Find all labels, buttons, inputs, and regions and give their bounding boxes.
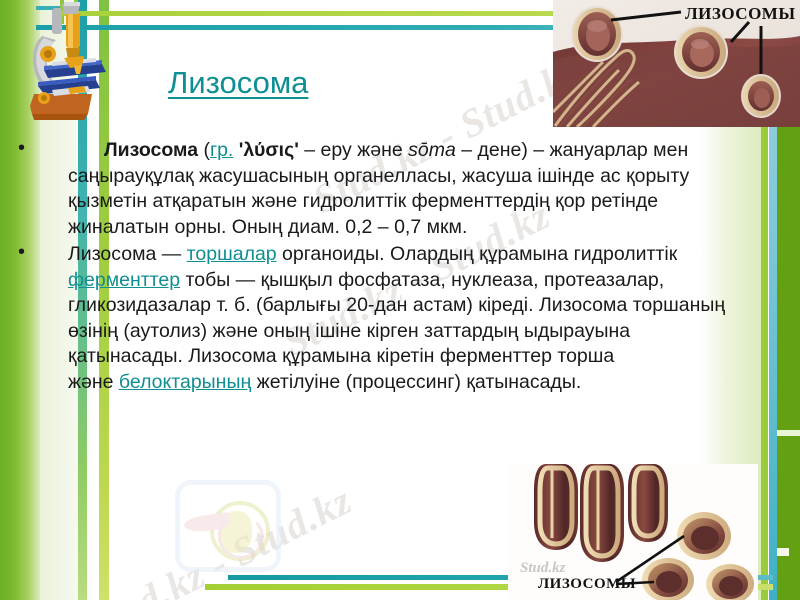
plain-text: жетілуіне (процессинг) қатынасады. — [251, 371, 581, 393]
slide-body: Лизосома (гр. 'λύσις' – еру және sōma – … — [18, 138, 750, 397]
plain-text: – еру және — [299, 139, 408, 161]
italic-text: sōma — [408, 139, 456, 161]
bullet-list: Лизосома (гр. 'λύσις' – еру және sōma – … — [18, 138, 750, 395]
bullet-2-rich-text: Лизосома — торшалар органоиды. Олардың қ… — [68, 243, 725, 393]
inline-link[interactable]: гр. — [210, 139, 233, 161]
bold-text: Лизосома — [104, 139, 198, 161]
right-notch-upper — [777, 430, 800, 436]
list-item: Лизосома — торшалар органоиды. Олардың қ… — [18, 242, 750, 395]
plain-text: және — [68, 371, 119, 393]
logo-ring-inner-icon — [218, 515, 264, 559]
presentation-slide: Stud.kz - Stud.kz Stud.kz - Stud.kz Stud… — [0, 0, 800, 600]
micrograph-bottom-label: ЛИЗОСОМЫ — [538, 576, 636, 592]
page-title: Лизосома — [168, 66, 308, 100]
plain-text: ( — [198, 139, 210, 161]
list-item: Лизосома (гр. 'λύσις' – еру және sōma – … — [18, 138, 750, 240]
inline-link[interactable]: белоктарының — [119, 371, 251, 393]
bullet-1-rich-text: Лизосома (гр. 'λύσις' – еру және sōma – … — [68, 139, 689, 238]
right-notch-lower — [777, 548, 789, 556]
microscope-icon — [22, 2, 114, 124]
inline-link[interactable]: ферменттер — [68, 269, 180, 291]
greek-term: 'λύσις' — [239, 139, 299, 161]
lysosome-diagram-bottom: ЛИЗОСОМЫ — [508, 464, 758, 600]
stud-kz-logo-watermark — [175, 480, 281, 572]
micrograph-top-label: ЛИЗОСОМЫ — [685, 4, 796, 23]
lysosome-electron-micrograph-top: ЛИЗОСОМЫ — [553, 0, 800, 127]
inline-link[interactable]: торшалар — [187, 243, 277, 265]
plain-text: органоиды. Олардың құрамына гидролиттік — [277, 243, 678, 265]
plain-text: Лизосома — — [68, 243, 187, 265]
